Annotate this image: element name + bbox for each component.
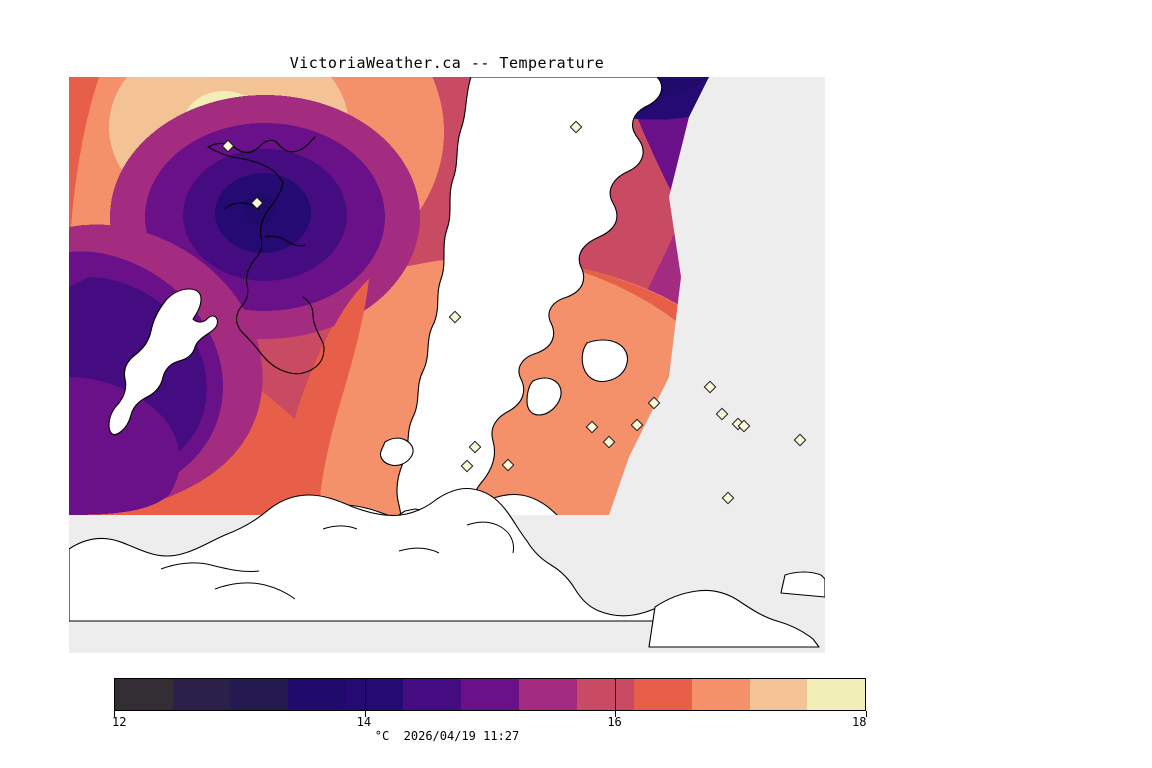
weather-map-figure: VictoriaWeather.ca -- Temperature <box>0 0 1152 768</box>
station-marker <box>222 140 233 151</box>
station-marker <box>570 121 581 132</box>
station-marker <box>716 408 727 419</box>
colorbar-tick <box>615 678 616 711</box>
colorbar-segment <box>346 679 404 710</box>
station-markers[interactable] <box>69 77 825 653</box>
colorbar-segment <box>577 679 635 710</box>
colorbar-segment <box>692 679 750 710</box>
station-marker <box>586 421 597 432</box>
colorbar[interactable] <box>114 678 866 711</box>
station-marker <box>461 460 472 471</box>
colorbar-segment <box>173 679 231 710</box>
colorbar-tick-label: 18 <box>852 715 866 729</box>
colorbar-segment <box>750 679 808 710</box>
station-marker <box>722 492 733 503</box>
station-marker <box>469 441 480 452</box>
colorbar-segment <box>807 679 865 710</box>
station-marker <box>704 381 715 392</box>
colorbar-segment <box>288 679 346 710</box>
station-marker <box>251 197 262 208</box>
colorbar-segment <box>519 679 577 710</box>
colorbar-tick-label: 14 <box>357 715 371 729</box>
colorbar-tick <box>365 678 366 711</box>
map-panel[interactable] <box>69 77 825 653</box>
colorbar-segment <box>115 679 173 710</box>
colorbar-segment <box>634 679 692 710</box>
colorbar-segment <box>403 679 461 710</box>
colorbar-segment <box>230 679 288 710</box>
colorbar-segment <box>461 679 519 710</box>
figure-title: VictoriaWeather.ca -- Temperature <box>0 54 894 72</box>
station-marker <box>502 459 513 470</box>
station-marker <box>648 397 659 408</box>
station-marker <box>603 436 614 447</box>
station-marker <box>794 434 805 445</box>
colorbar-tick-label: 16 <box>607 715 621 729</box>
station-marker <box>449 311 460 322</box>
colorbar-caption: °C 2026/04/19 11:27 <box>0 729 894 743</box>
colorbar-tick-label: 12 <box>112 715 126 729</box>
station-marker <box>631 419 642 430</box>
